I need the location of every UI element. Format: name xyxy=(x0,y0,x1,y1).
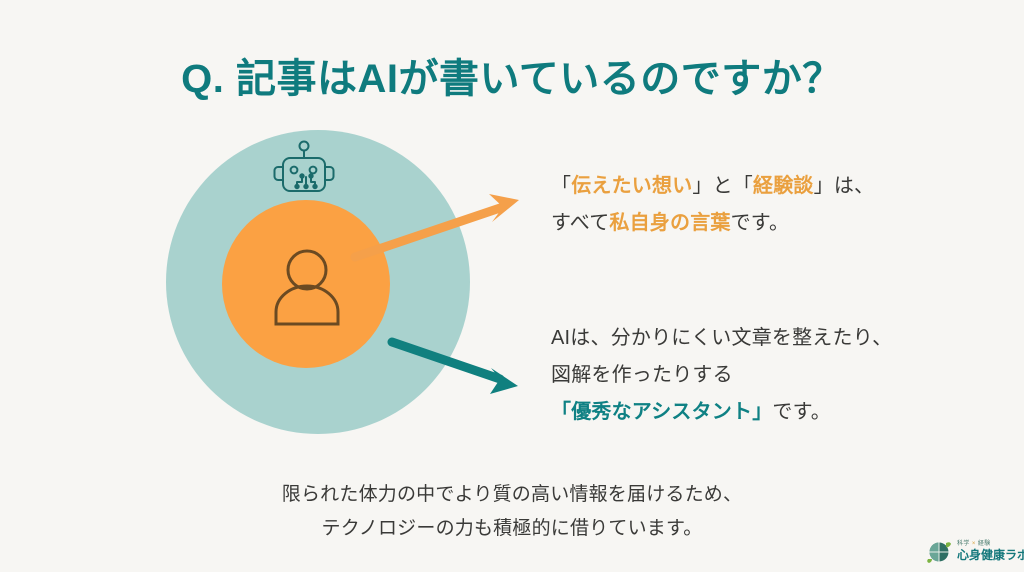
text-run-highlight: 経験談 xyxy=(753,175,814,197)
text-run: です。 xyxy=(731,212,790,234)
logo-tag-left: 科学 xyxy=(957,541,970,547)
brand-logo: 科学 × 経験 心身健康ラボ xyxy=(925,533,1021,569)
text-run: すべて xyxy=(551,212,609,234)
text-run: 」は、 xyxy=(814,175,875,197)
robot-head-icon xyxy=(268,140,340,198)
globe-leaf-logo-mark xyxy=(925,537,953,565)
logo-tag-right: 経験 xyxy=(978,541,991,547)
callout-line: 図解を作ったりする xyxy=(551,357,892,394)
logo-tag-sep: × xyxy=(972,541,976,547)
footer-line-1: 限られた体力の中でより質の高い情報を届けるため、 xyxy=(0,478,1024,512)
footer-line-2: テクノロジーの力も積極的に借りています。 xyxy=(0,512,1024,546)
page-title: Q. 記事はAIが書いているのですか？ xyxy=(0,46,1024,104)
callout-ai-assistant: AIは、分かりにくい文章を整えたり、 図解を作ったりする 「優秀なアシスタント」… xyxy=(551,320,892,431)
callout-line: AIは、分かりにくい文章を整えたり、 xyxy=(551,320,892,357)
text-run: です。 xyxy=(772,401,831,423)
text-run: 」と「 xyxy=(692,175,753,197)
logo-name: 心身健康ラボ xyxy=(957,548,1024,562)
callout-line: 「伝えたい想い」と「経験談」は、 xyxy=(551,168,874,205)
callout-line: すべて私自身の言葉です。 xyxy=(551,205,874,242)
arrow-teal-head xyxy=(490,368,518,394)
logo-text: 科学 × 経験 心身健康ラボ xyxy=(957,540,1024,562)
text-run: 「 xyxy=(551,175,571,197)
text-run-highlight: 私自身の言葉 xyxy=(609,212,730,234)
text-run: 図解を作ったりする xyxy=(551,364,733,386)
callout-human-voice: 「伝えたい想い」と「経験談」は、 すべて私自身の言葉です。 xyxy=(551,168,874,242)
text-run-highlight: 伝えたい想い xyxy=(571,175,692,197)
logo-tagline: 科学 × 経験 xyxy=(957,540,1024,548)
text-run-highlight: 「優秀なアシスタント」 xyxy=(551,401,772,423)
text-run: AIは、分かりにくい文章を整えたり、 xyxy=(551,327,892,349)
person-icon xyxy=(272,248,342,326)
footer-note: 限られた体力の中でより質の高い情報を届けるため、 テクノロジーの力も積極的に借り… xyxy=(0,478,1024,546)
callout-line: 「優秀なアシスタント」です。 xyxy=(551,394,892,431)
arrow-orange-head xyxy=(489,194,519,222)
slide-canvas: Q. 記事はAIが書いているのですか？ xyxy=(0,0,1024,572)
